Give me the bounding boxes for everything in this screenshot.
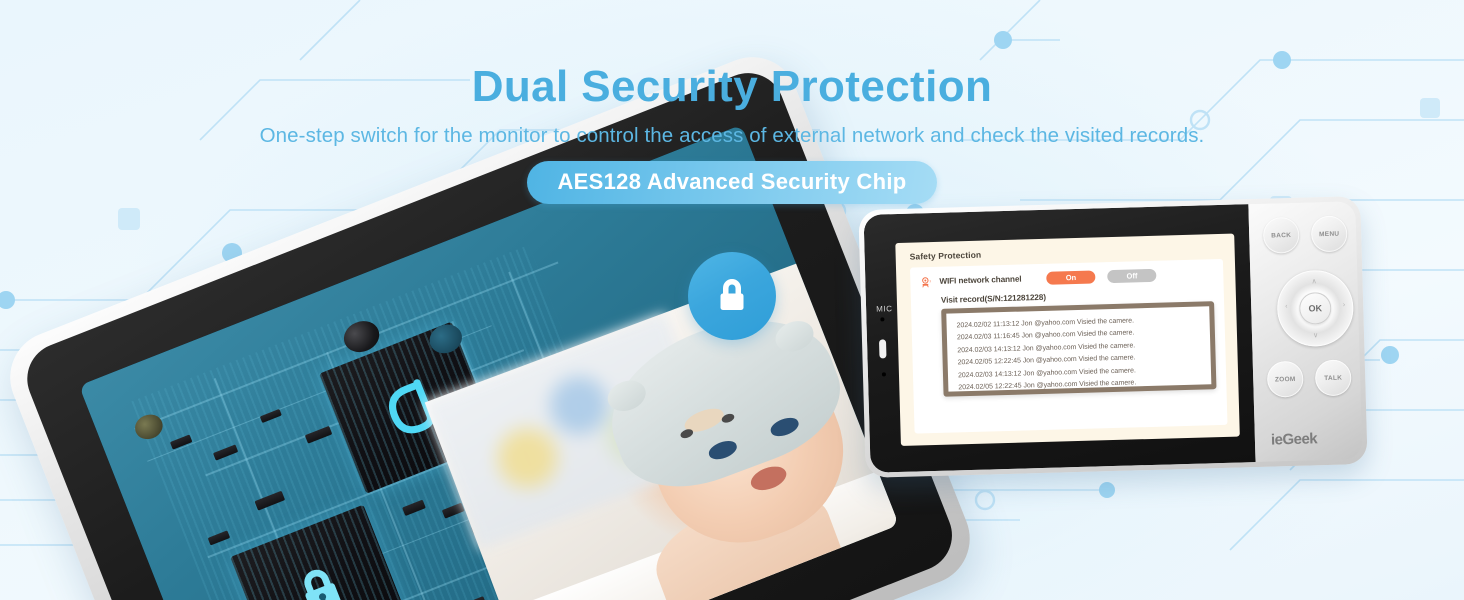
dpad-right-icon[interactable]: › (1343, 302, 1346, 309)
padlock-icon (710, 273, 754, 319)
toggle-off-button[interactable]: Off (1107, 269, 1156, 283)
sensor-hole (882, 372, 886, 376)
zoom-button[interactable]: ZOOM (1267, 361, 1304, 398)
mic-hole (880, 317, 884, 321)
wifi-toggle-group[interactable]: On Off (1046, 269, 1156, 285)
settings-panel: 1 WIFI network channel On Off Visit reco… (910, 259, 1228, 434)
dpad-up-icon[interactable]: ∧ (1311, 277, 1316, 285)
menu-button[interactable]: MENU (1311, 215, 1348, 252)
control-panel: BACK MENU ∧ ∨ ‹ › OK ZOOM TALK ieGeek (1248, 201, 1362, 462)
back-button[interactable]: BACK (1263, 217, 1300, 254)
talk-button[interactable]: TALK (1315, 359, 1352, 396)
feature-badge: AES128 Advanced Security Chip (527, 161, 936, 204)
promo-banner: Dual Security Protection One-step switch… (0, 0, 1464, 600)
brand-logo: ieGeek (1271, 430, 1318, 448)
toggle-on-button[interactable]: On (1046, 270, 1095, 284)
hero-header: Dual Security Protection One-step switch… (0, 0, 1464, 204)
monitor-bezel: MIC Safety Protection 1 (863, 204, 1255, 473)
dpad-control[interactable]: ∧ ∨ ‹ › OK (1276, 269, 1354, 347)
speaker-slot (879, 339, 887, 358)
page-title: Dual Security Protection (0, 62, 1464, 112)
wifi-setting-row: 1 WIFI network channel On Off (920, 267, 1213, 288)
mic-label: MIC (876, 304, 893, 313)
visit-record-list[interactable]: 2024.02/02 11:13:12 Jon @yahoo.com Visie… (941, 301, 1216, 397)
page-subtitle: One-step switch for the monitor to contr… (0, 124, 1464, 148)
camera-index: 1 (929, 279, 931, 283)
camera-icon: 1 (920, 276, 932, 288)
screen-title: Safety Protection (910, 243, 1223, 262)
dpad-left-icon[interactable]: ‹ (1285, 303, 1288, 310)
monitor-screen: Safety Protection 1 WIFI network channel (895, 234, 1240, 446)
wifi-channel-label: WIFI network channel (939, 275, 1021, 286)
baby-monitor-small: MIC Safety Protection 1 (858, 196, 1367, 478)
dpad-down-icon[interactable]: ∨ (1313, 331, 1318, 339)
security-lock-badge (688, 252, 776, 340)
ok-button[interactable]: OK (1299, 292, 1332, 325)
